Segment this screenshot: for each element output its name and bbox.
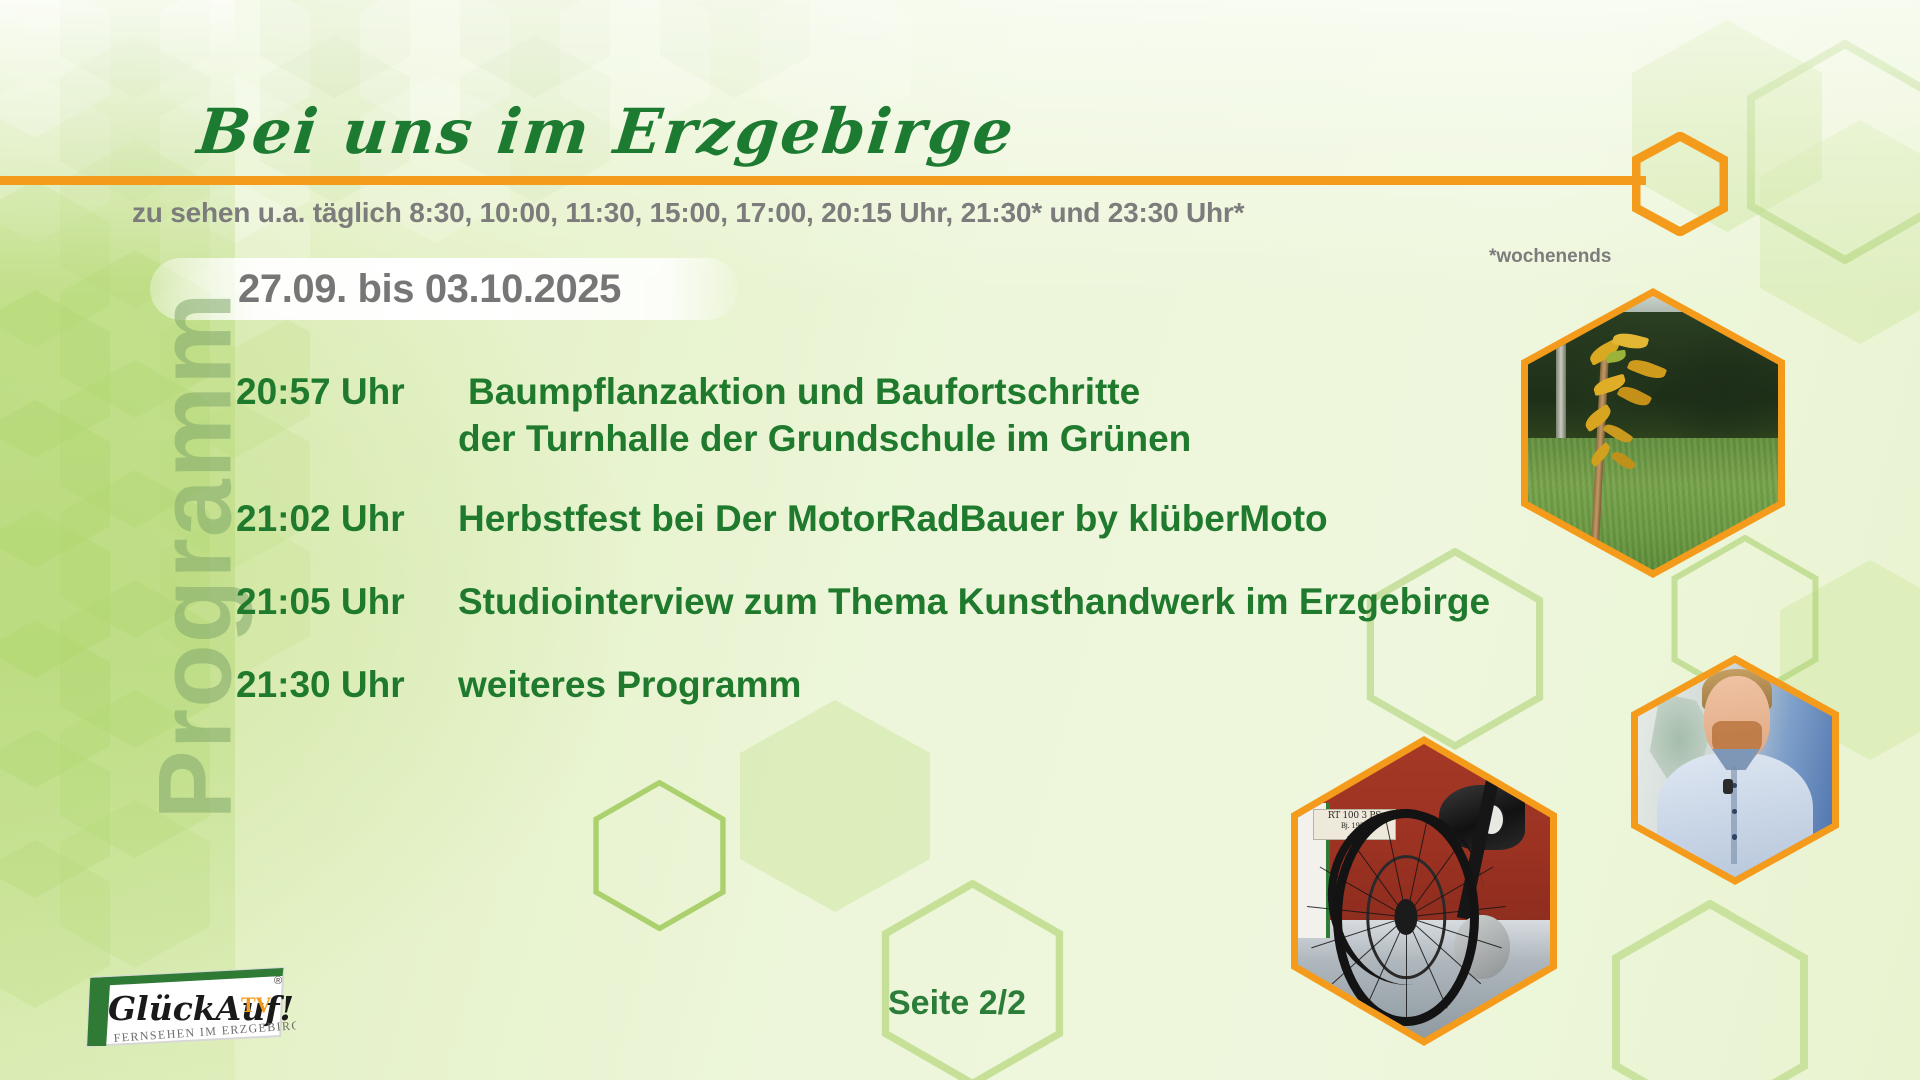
page-title: Bei uns im Erzgebirge: [194, 95, 1018, 168]
channel-logo: GlückAuf! TV ® FERNSEHEN IM ERZGEBIRGE: [78, 962, 296, 1054]
program-screen: Bei uns im Erzgebirge zu sehen u.a. tägl…: [0, 0, 1920, 1080]
date-range-badge: 27.09. bis 03.10.2025: [150, 258, 738, 320]
program-time: 21:02 Uhr: [236, 495, 458, 542]
date-range-label: 27.09. bis 03.10.2025: [238, 267, 621, 312]
program-title: Baumpflanzaktion und Baufortschritte der…: [458, 368, 1191, 463]
program-list: 20:57 Uhr Baumpflanzaktion und Baufortsc…: [236, 368, 1656, 735]
program-time: 21:05 Uhr: [236, 578, 458, 625]
photo-tree: [1521, 288, 1785, 578]
program-row: 21:30 Uhr weiteres Programm: [236, 661, 1656, 708]
hexagon-outline-icon: [1632, 132, 1728, 236]
program-title: weiteres Programm: [458, 661, 801, 708]
schedule-footnote: *wochenends: [1489, 246, 1611, 268]
logo-tv-suffix: TV: [241, 992, 272, 1017]
program-title: Studiointerview zum Thema Kunsthandwerk …: [458, 578, 1490, 625]
logo-registered-mark: ®: [274, 975, 282, 987]
page-indicator: Seite 2/2: [888, 984, 1026, 1023]
program-row: 21:02 Uhr Herbstfest bei Der MotorRadBau…: [236, 495, 1656, 542]
program-row: 20:57 Uhr Baumpflanzaktion und Baufortsc…: [236, 368, 1656, 463]
photo-motorcycle: RT 100 3 PSBj. 1939: [1291, 736, 1557, 1046]
header-divider-rule: [0, 176, 1646, 185]
program-time: 21:30 Uhr: [236, 661, 458, 708]
program-title: Herbstfest bei Der MotorRadBauer by klüb…: [458, 495, 1328, 542]
broadcast-schedule-text: zu sehen u.a. täglich 8:30, 10:00, 11:30…: [132, 197, 1244, 229]
program-time: 20:57 Uhr: [236, 368, 458, 415]
photo-studio-interview: [1631, 655, 1839, 885]
motorcycle-wheel: [1333, 809, 1479, 1027]
program-row: 21:05 Uhr Studiointerview zum Thema Kuns…: [236, 578, 1656, 625]
